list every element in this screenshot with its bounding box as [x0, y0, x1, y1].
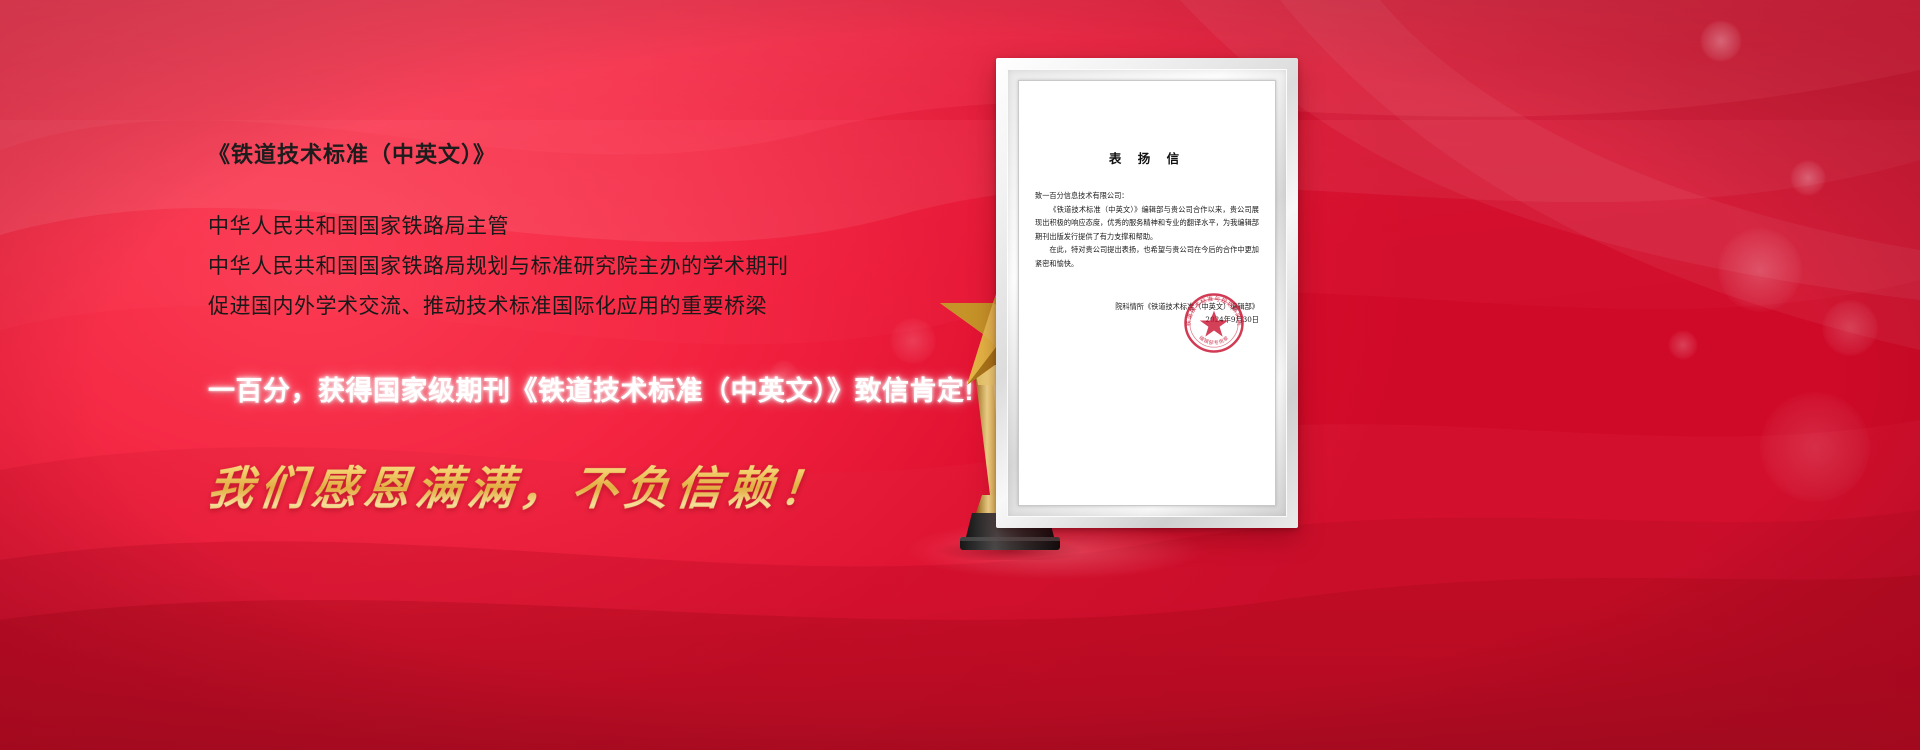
certificate-signature: 铁道技术标准与规划研究院 编辑部专用章 院科情所《铁道技术标准（中英文）编辑部》… [1035, 300, 1259, 326]
certificate-paragraph: 《铁道技术标准（中英文）》编辑部与贵公司合作以来，贵公司展现出积极的响应态度，优… [1035, 203, 1259, 244]
certificate-title: 表 扬 信 [1035, 148, 1259, 167]
bokeh-circle [1760, 392, 1870, 502]
description-line: 中华人民共和国国家铁路局主管 [208, 207, 1008, 247]
bokeh-circle [1668, 330, 1698, 360]
certificate-paper: 表 扬 信 致一百分信息技术有限公司： 《铁道技术标准（中英文）》编辑部与贵公司… [1018, 80, 1276, 506]
description-line: 中华人民共和国国家铁路局规划与标准研究院主办的学术期刊 [208, 247, 1008, 287]
bokeh-circle [1790, 160, 1826, 196]
promo-banner: 《铁道技术标准（中英文）》 中华人民共和国国家铁路局主管 中华人民共和国国家铁路… [0, 0, 1920, 750]
svg-text:编辑部专用章: 编辑部专用章 [1198, 334, 1231, 346]
banner-copy: 《铁道技术标准（中英文）》 中华人民共和国国家铁路局主管 中华人民共和国国家铁路… [208, 140, 1008, 518]
certificate-paragraph: 在此，特对贵公司提出表扬，也希望与贵公司在今后的合作中更加紧密和愉快。 [1035, 243, 1259, 270]
bokeh-circle [1700, 20, 1742, 62]
certificate-body: 致一百分信息技术有限公司： 《铁道技术标准（中英文）》编辑部与贵公司合作以来，贵… [1035, 189, 1259, 270]
headline-text: 一百分，获得国家级期刊《铁道技术标准（中英文）》致信肯定! [208, 369, 1008, 408]
bokeh-circle [1718, 228, 1802, 312]
bokeh-circle [1822, 300, 1878, 356]
certificate-salutation: 致一百分信息技术有限公司： [1035, 189, 1259, 203]
journal-title: 《铁道技术标准（中英文）》 [208, 140, 1008, 171]
official-seal-icon: 铁道技术标准与规划研究院 编辑部专用章 [1183, 292, 1245, 354]
description-line: 促进国内外学术交流、推动技术标准国际化应用的重要桥梁 [208, 287, 1008, 327]
certificate-frame: 表 扬 信 致一百分信息技术有限公司： 《铁道技术标准（中英文）》编辑部与贵公司… [996, 58, 1298, 528]
journal-description: 中华人民共和国国家铁路局主管 中华人民共和国国家铁路局规划与标准研究院主办的学术… [208, 207, 1008, 327]
calligraphy-slogan: 我们感恩满满，不负信赖！ [205, 452, 1012, 518]
